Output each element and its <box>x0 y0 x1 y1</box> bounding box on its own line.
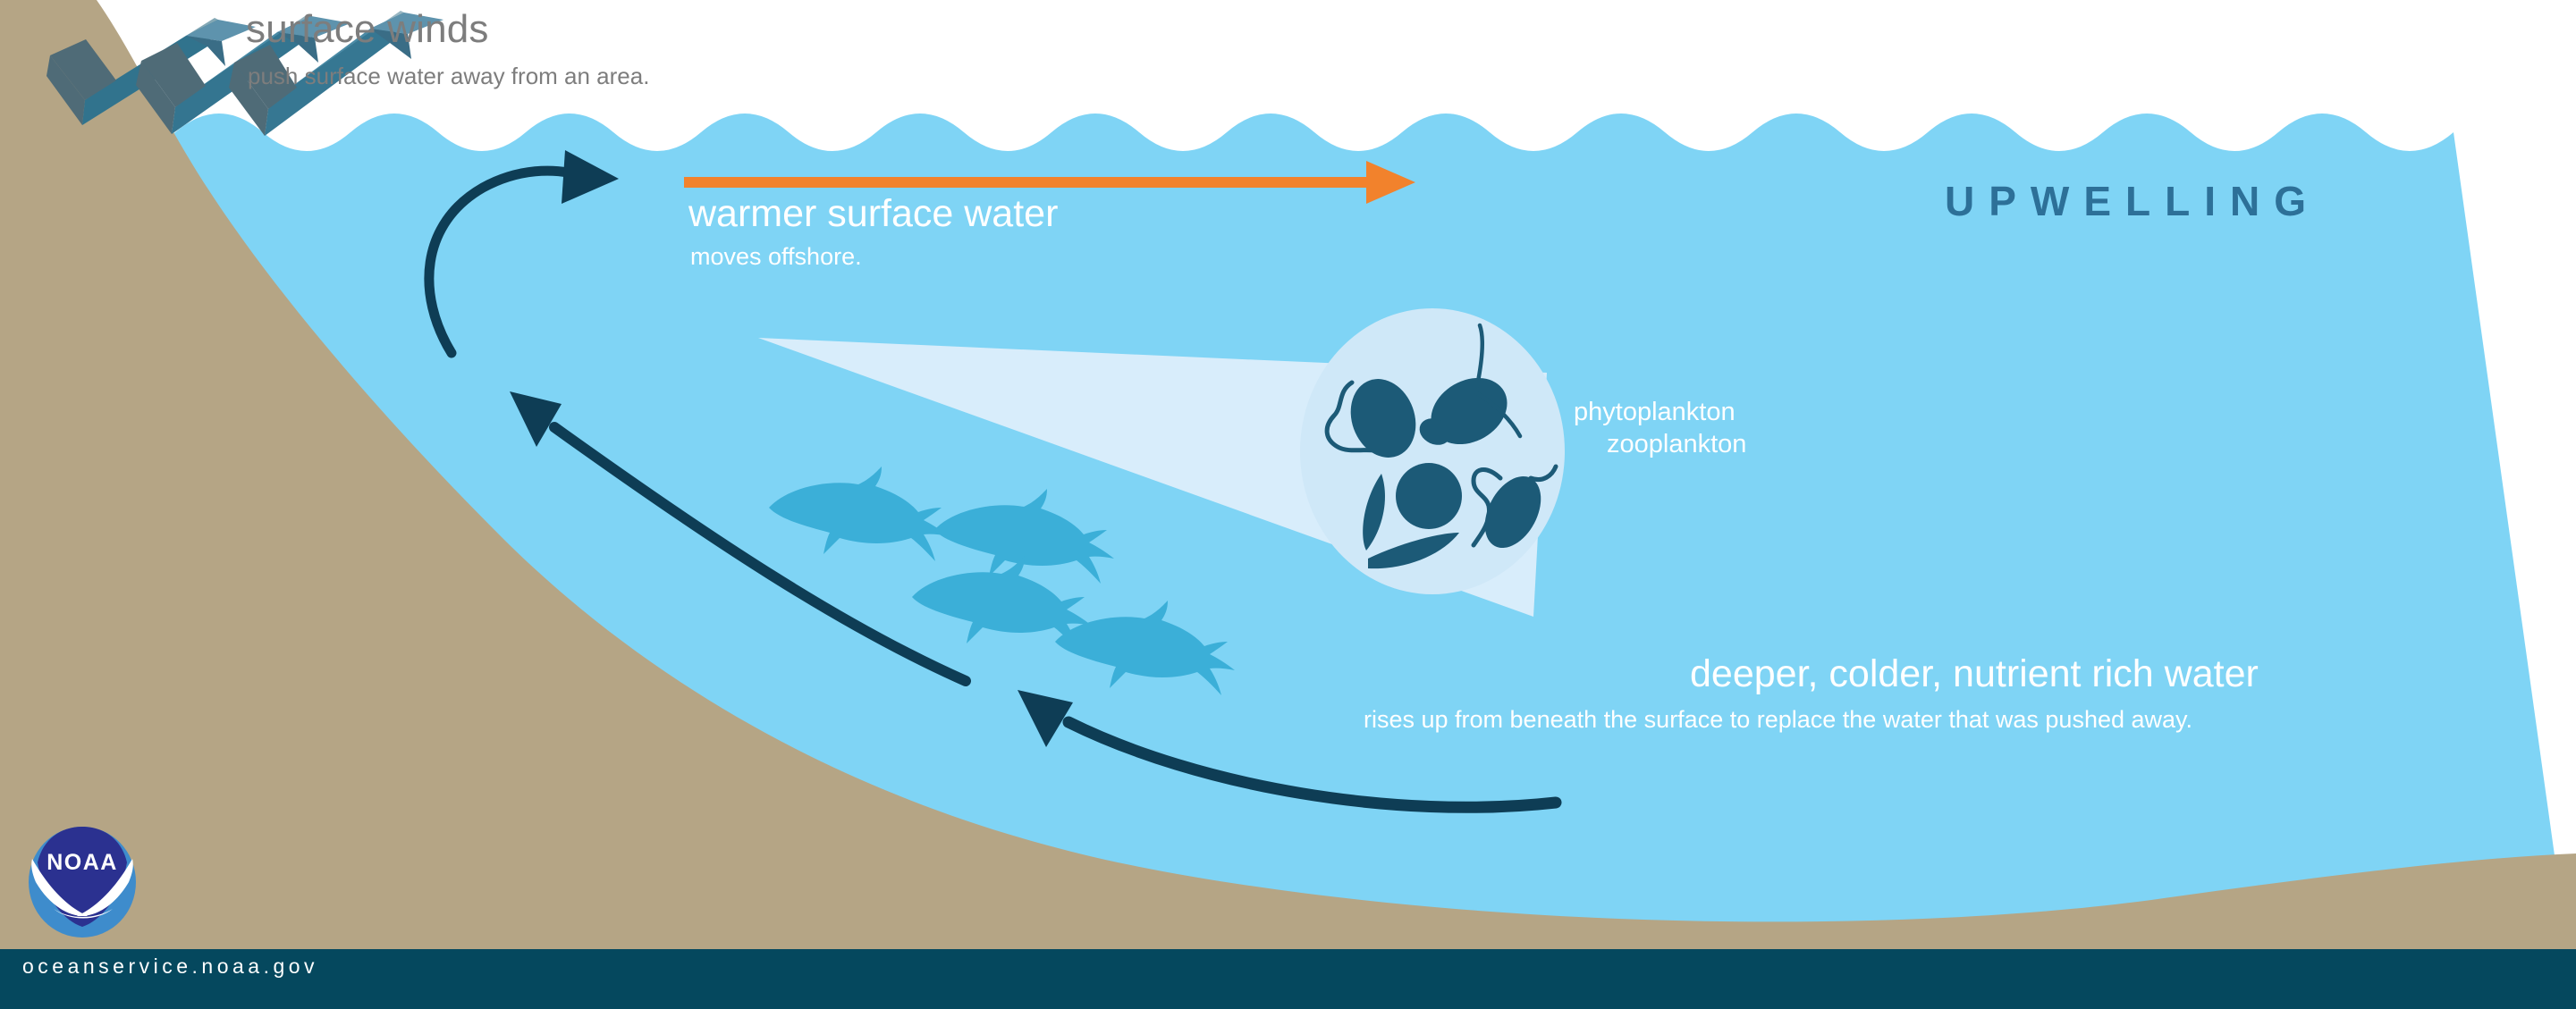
surface-winds-subtitle: push surface water away from an area. <box>248 63 649 90</box>
warmer-surface-water-title: warmer surface water <box>688 192 1058 236</box>
footer-url[interactable]: oceanservice.noaa.gov <box>22 954 318 979</box>
noaa-logo-wordmark: NOAA <box>46 850 118 875</box>
deep-water-title: deeper, colder, nutrient rich water <box>1690 652 2259 696</box>
plankton-bubble <box>1300 308 1565 594</box>
zooplankton-label: zooplankton <box>1607 430 1746 459</box>
upwelling-title: UPWELLING <box>1945 177 2320 225</box>
diagram-canvas: NOAA <box>0 0 2576 1009</box>
upwelling-infographic: NOAA surface winds push surface water aw… <box>0 0 2576 1009</box>
deep-water-subtitle: rises up from beneath the surface to rep… <box>1364 706 2192 734</box>
warmer-surface-water-subtitle: moves offshore. <box>690 243 862 271</box>
surface-winds-title: surface winds <box>246 7 489 52</box>
noaa-logo[interactable]: NOAA <box>29 827 136 938</box>
phytoplankton-label: phytoplankton <box>1574 398 1736 427</box>
footer-bar <box>0 949 2576 1009</box>
